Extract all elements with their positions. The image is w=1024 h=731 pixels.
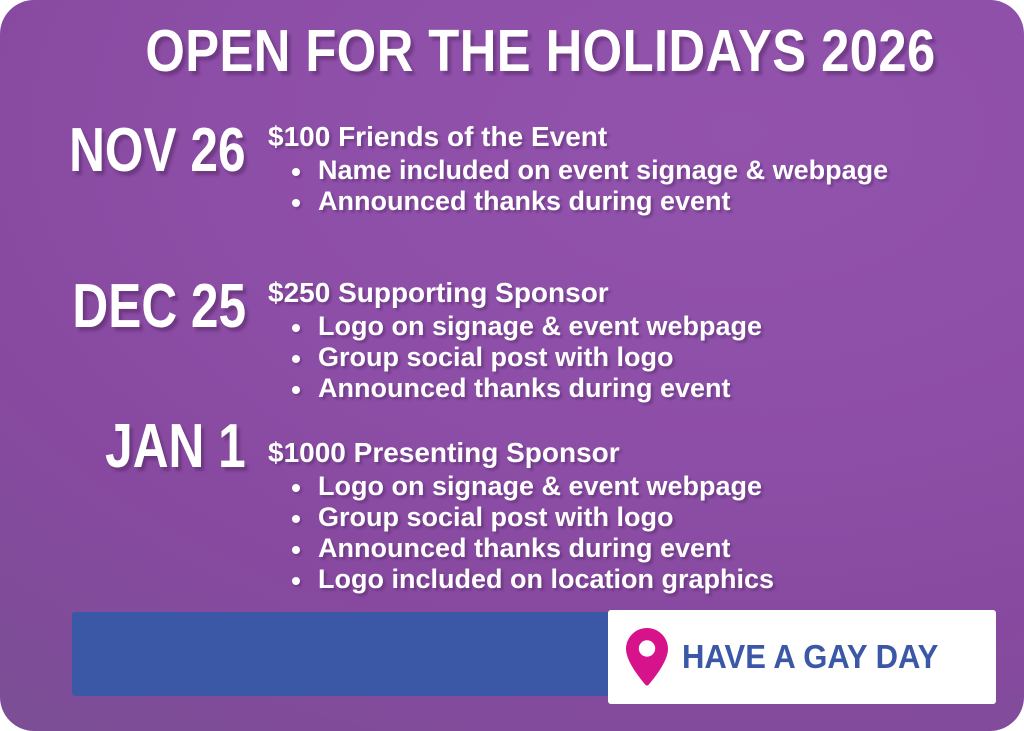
- tier-benefits: Name included on event signage & webpage…: [268, 155, 1004, 217]
- list-item: Group social post with logo: [268, 502, 1004, 533]
- list-item: Announced thanks during event: [268, 186, 1004, 217]
- benefit-text: Logo on signage & event webpage: [318, 311, 762, 341]
- bullet-icon: [292, 515, 300, 523]
- tier-date-column: DEC 25: [0, 260, 268, 340]
- list-item: Announced thanks during event: [268, 373, 1004, 404]
- tier-heading: $1000 Presenting Sponsor: [268, 436, 1004, 470]
- sponsorship-tier-list: NOV 26 $100 Friends of the Event Name in…: [0, 104, 1024, 601]
- map-pin-icon: [626, 628, 668, 686]
- poster-title-bar: OPEN FOR THE HOLIDAYS 2026: [0, 16, 1024, 86]
- poster-footer: HAVE A GAY DAY: [0, 600, 1024, 731]
- list-item: Name included on event signage & webpage: [268, 155, 1004, 186]
- bullet-icon: [292, 577, 300, 585]
- tier-date: DEC 25: [72, 274, 246, 340]
- benefit-text: Name included on event signage & webpage: [318, 155, 888, 185]
- bullet-icon: [292, 324, 300, 332]
- benefit-text: Logo included on location graphics: [318, 564, 774, 594]
- bullet-icon: [292, 484, 300, 492]
- tier-body: $1000 Presenting Sponsor Logo on signage…: [268, 410, 1004, 595]
- footer-accent-bar: [72, 612, 610, 696]
- benefit-text: Group social post with logo: [318, 502, 674, 532]
- brand-wordmark: HAVE A GAY DAY: [682, 639, 938, 675]
- sponsorship-tier: JAN 1 $1000 Presenting Sponsor Logo on s…: [0, 410, 1004, 595]
- list-item: Logo included on location graphics: [268, 564, 1004, 595]
- bullet-icon: [292, 355, 300, 363]
- brand-logo-panel: HAVE A GAY DAY: [608, 610, 996, 704]
- bullet-icon: [292, 386, 300, 394]
- tier-heading: $250 Supporting Sponsor: [268, 276, 1004, 310]
- tier-date: NOV 26: [70, 118, 246, 184]
- list-item: Group social post with logo: [268, 342, 1004, 373]
- bullet-icon: [292, 546, 300, 554]
- sponsorship-tier: NOV 26 $100 Friends of the Event Name in…: [0, 104, 1004, 217]
- tier-benefits: Logo on signage & event webpage Group so…: [268, 471, 1004, 595]
- tier-body: $250 Supporting Sponsor Logo on signage …: [268, 260, 1004, 404]
- tier-benefits: Logo on signage & event webpage Group so…: [268, 311, 1004, 404]
- bullet-icon: [292, 168, 300, 176]
- tier-date-column: NOV 26: [0, 104, 268, 184]
- sponsorship-poster: OPEN FOR THE HOLIDAYS 2026 NOV 26 $100 F…: [0, 0, 1024, 731]
- list-item: Logo on signage & event webpage: [268, 311, 1004, 342]
- benefit-text: Announced thanks during event: [318, 186, 731, 216]
- list-item: Logo on signage & event webpage: [268, 471, 1004, 502]
- bullet-icon: [292, 199, 300, 207]
- sponsorship-tier: DEC 25 $250 Supporting Sponsor Logo on s…: [0, 260, 1004, 404]
- tier-body: $100 Friends of the Event Name included …: [268, 104, 1004, 217]
- benefit-text: Logo on signage & event webpage: [318, 471, 762, 501]
- tier-heading: $100 Friends of the Event: [268, 120, 1004, 154]
- benefit-text: Announced thanks during event: [318, 373, 731, 403]
- tier-date: JAN 1: [105, 414, 246, 480]
- benefit-text: Announced thanks during event: [318, 533, 731, 563]
- benefit-text: Group social post with logo: [318, 342, 674, 372]
- tier-date-column: JAN 1: [0, 410, 268, 480]
- list-item: Announced thanks during event: [268, 533, 1004, 564]
- page-title: OPEN FOR THE HOLIDAYS 2026: [146, 20, 936, 82]
